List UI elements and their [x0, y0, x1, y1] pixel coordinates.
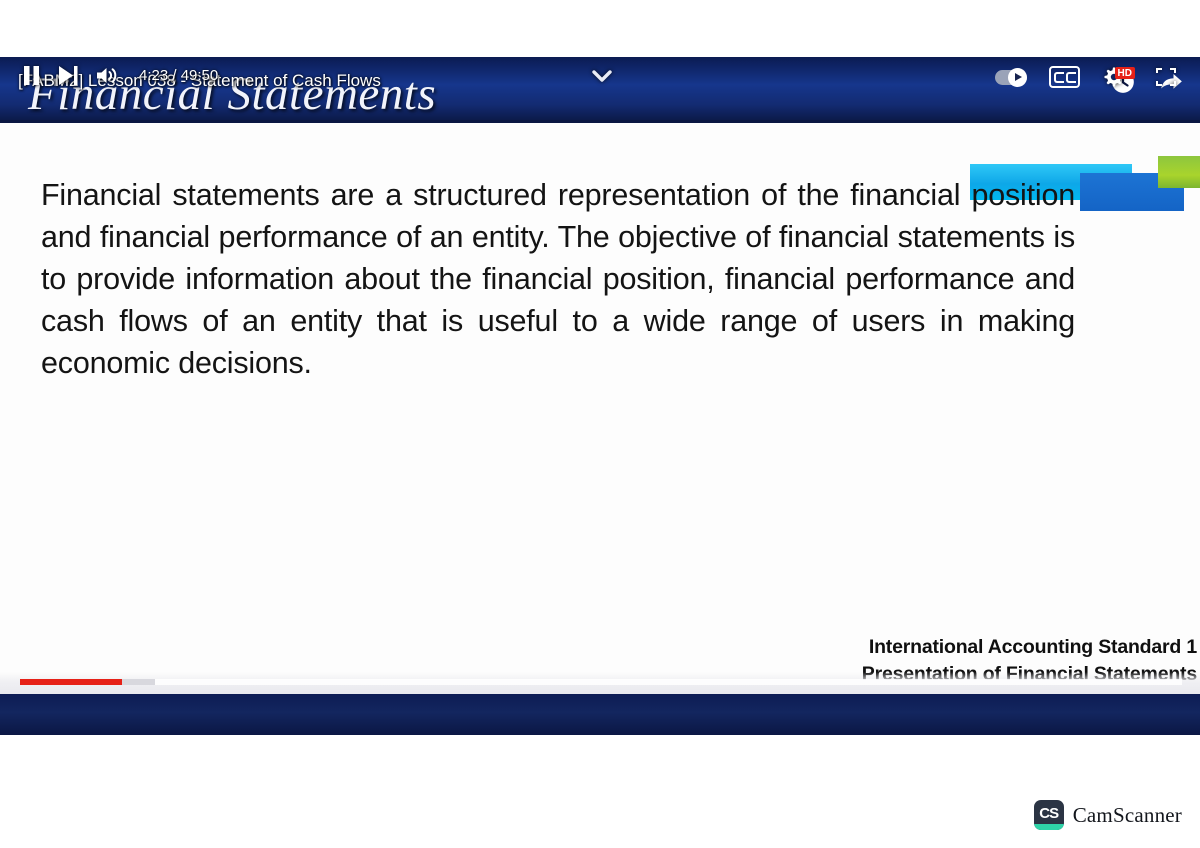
decor-rect-green — [1158, 156, 1200, 188]
citation-line-1: International Accounting Standard 1 — [677, 634, 1197, 661]
settings-button[interactable]: HD — [1102, 66, 1132, 88]
subtitles-button[interactable] — [1049, 66, 1080, 88]
progress-track[interactable] — [20, 679, 1182, 685]
progress-bar[interactable] — [0, 672, 1200, 694]
volume-button[interactable] — [95, 65, 119, 86]
camscanner-watermark: CS CamScanner — [1034, 800, 1182, 830]
camscanner-logo-icon: CS — [1034, 800, 1064, 830]
slide-canvas: Financial Statements Financial statement… — [0, 57, 1200, 735]
autoplay-knob — [1008, 68, 1027, 87]
player-controls-center — [592, 69, 612, 83]
progress-played — [20, 679, 122, 685]
camscanner-logo-bar — [1034, 824, 1064, 830]
pause-button[interactable] — [22, 65, 41, 86]
fullscreen-button[interactable] — [1154, 66, 1178, 88]
time-display: 4:23 / 49:50 — [139, 67, 218, 84]
cc-right-glyph — [1066, 72, 1076, 83]
autoplay-toggle[interactable] — [995, 70, 1027, 85]
camscanner-label: CamScanner — [1073, 803, 1182, 828]
hd-quality-badge: HD — [1115, 67, 1135, 79]
slide-body-text: Financial statements are a structured re… — [41, 174, 1075, 384]
player-control-bar[interactable] — [0, 694, 1200, 735]
cc-left-glyph — [1054, 72, 1064, 83]
chevron-down-icon[interactable] — [592, 69, 612, 83]
next-video-button[interactable] — [57, 65, 79, 86]
camscanner-logo-text: CS — [1039, 805, 1058, 822]
player-controls-left: 4:23 / 49:50 — [22, 65, 218, 86]
scanned-page: Financial Statements Financial statement… — [0, 0, 1200, 848]
video-player[interactable]: Financial Statements Financial statement… — [0, 57, 1200, 735]
player-controls-right: HD — [995, 66, 1178, 88]
